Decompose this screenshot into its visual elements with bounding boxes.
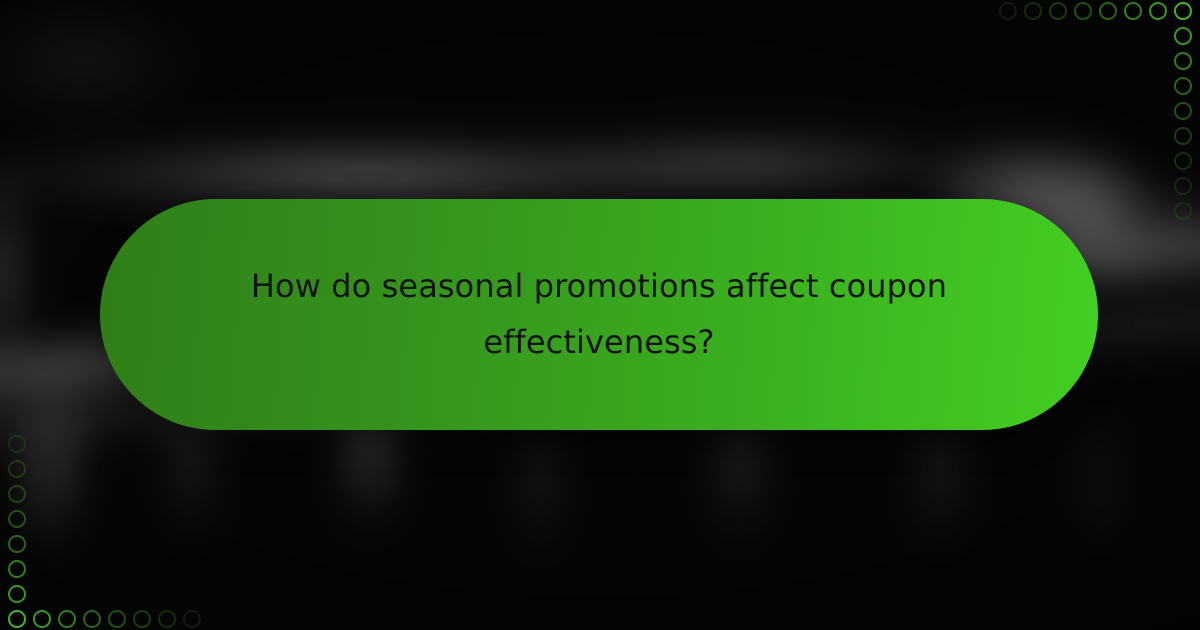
question-text: How do seasonal promotions affect coupon… xyxy=(219,259,979,369)
question-card[interactable]: How do seasonal promotions affect coupon… xyxy=(100,199,1098,430)
screenshot-stage: How do seasonal promotions affect coupon… xyxy=(0,0,1200,630)
